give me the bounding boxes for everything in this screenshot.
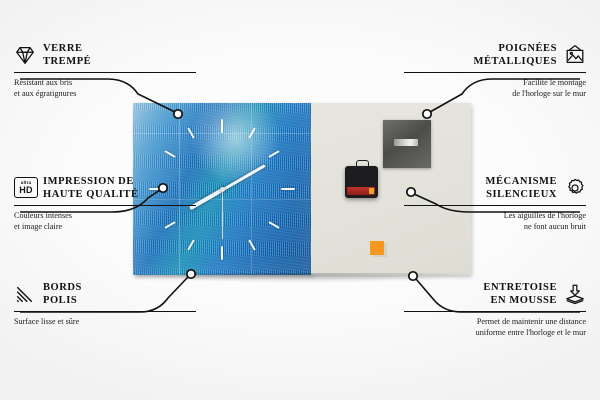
feature-description: Permet de maintenir une distance uniform…	[404, 316, 586, 339]
feature-title: MÉCANISME SILENCIEUX	[486, 175, 557, 202]
feature-title-line1: VERRE	[43, 42, 91, 55]
divider	[404, 311, 586, 312]
feature-title-line1: MÉCANISME	[486, 175, 557, 188]
feature-header: ENTRETOISE EN MOUSSE	[404, 281, 586, 308]
divider	[404, 205, 586, 206]
feature-entretoise-en-mousse: ENTRETOISE EN MOUSSE Permet de maintenir…	[404, 281, 586, 338]
feature-title-line2: TREMPÉ	[43, 55, 91, 68]
feature-header: MÉCANISME SILENCIEUX	[404, 175, 586, 202]
feature-title-line1: IMPRESSION DE	[43, 175, 139, 188]
product-feature-infographic: VERRE TREMPÉ Résistant aux bris et aux é…	[0, 0, 600, 400]
feature-title-line1: ENTRETOISE	[483, 281, 557, 294]
feature-header: BORDS POLIS	[14, 281, 196, 308]
feature-description: Couleurs intenses et image claire	[14, 210, 196, 233]
feature-desc-line1: Surface lisse et sûre	[14, 316, 196, 327]
feature-header: ultra HD IMPRESSION DE HAUTE QUALITÉ	[14, 175, 196, 202]
polished-edges-icon	[14, 283, 36, 305]
diamond-icon	[14, 44, 36, 66]
feature-header: VERRE TREMPÉ	[14, 42, 196, 69]
foam-spacer-icon	[564, 283, 586, 305]
feature-desc-line1: Couleurs intenses	[14, 210, 196, 221]
feature-desc-line1: Facilite le montage	[404, 77, 586, 88]
feature-title: POIGNÉES MÉTALLIQUES	[474, 42, 557, 69]
feature-title: BORDS POLIS	[43, 281, 82, 308]
feature-title-line2: POLIS	[43, 294, 82, 307]
feature-title: VERRE TREMPÉ	[43, 42, 91, 69]
feature-description: Les aiguilles de l'horloge ne font aucun…	[404, 210, 586, 233]
divider	[14, 311, 196, 312]
feature-title-line2: EN MOUSSE	[483, 294, 557, 307]
ultra-hd-icon: ultra HD	[14, 177, 36, 199]
feature-desc-line1: Permet de maintenir une distance	[404, 316, 586, 327]
feature-title-line2: SILENCIEUX	[486, 188, 557, 201]
feature-desc-line2: et aux égratignures	[14, 88, 196, 99]
ultra-hd-large-text: HD	[19, 186, 32, 195]
feature-desc-line2: et image claire	[14, 221, 196, 232]
feature-header: POIGNÉES MÉTALLIQUES	[404, 42, 586, 69]
divider	[404, 72, 586, 73]
feature-title: ENTRETOISE EN MOUSSE	[483, 281, 557, 308]
feature-poignees-metalliques: POIGNÉES MÉTALLIQUES Facilite le montage…	[404, 42, 586, 99]
feature-description: Facilite le montage de l'horloge sur le …	[404, 77, 586, 100]
feature-desc-line1: Les aiguilles de l'horloge	[404, 210, 586, 221]
feature-desc-line1: Résistant aux bris	[14, 77, 196, 88]
feature-verre-trempe: VERRE TREMPÉ Résistant aux bris et aux é…	[14, 42, 196, 99]
feature-desc-line2: uniforme entre l'horloge et le mur	[404, 327, 586, 338]
divider	[14, 205, 196, 206]
feature-title-line1: POIGNÉES	[474, 42, 557, 55]
feature-bords-polis: BORDS POLIS Surface lisse et sûre	[14, 281, 196, 327]
feature-title-line2: HAUTE QUALITÉ	[43, 188, 139, 201]
gear-icon	[564, 177, 586, 199]
feature-mecanisme-silencieux: MÉCANISME SILENCIEUX Les aiguilles de l'…	[404, 175, 586, 232]
feature-impression-haute-qualite: ultra HD IMPRESSION DE HAUTE QUALITÉ Cou…	[14, 175, 196, 232]
feature-title-line2: MÉTALLIQUES	[474, 55, 557, 68]
feature-desc-line2: de l'horloge sur le mur	[404, 88, 586, 99]
feature-description: Surface lisse et sûre	[14, 316, 196, 327]
feature-description: Résistant aux bris et aux égratignures	[14, 77, 196, 100]
feature-title: IMPRESSION DE HAUTE QUALITÉ	[43, 175, 139, 202]
picture-frame-hanger-icon	[564, 44, 586, 66]
divider	[14, 72, 196, 73]
feature-desc-line2: ne font aucun bruit	[404, 221, 586, 232]
feature-title-line1: BORDS	[43, 281, 82, 294]
